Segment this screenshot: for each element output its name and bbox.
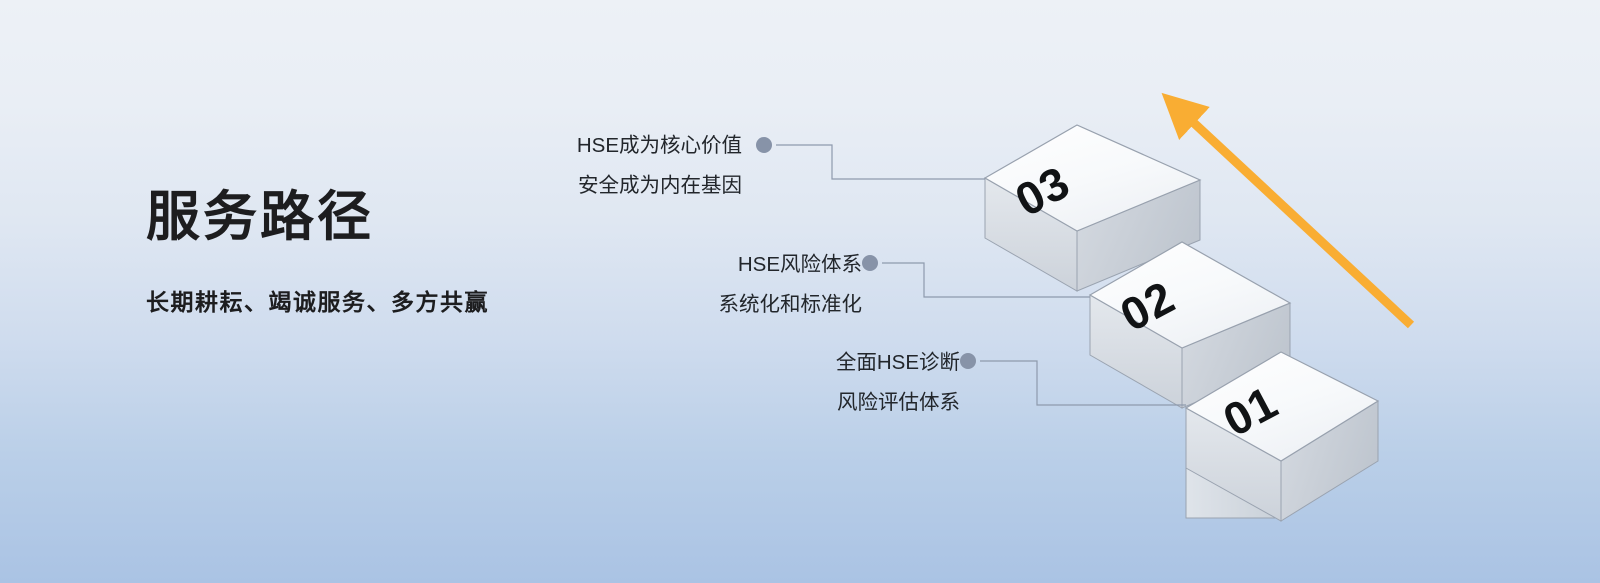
connector-dot-02: [862, 255, 878, 271]
connector-dot-03: [756, 137, 772, 153]
connector-dot-01: [960, 353, 976, 369]
slide-canvas: 服务路径 长期耕耘、竭诚服务、多方共赢 HSE成为核心价值 安全成为内在基因 H…: [0, 0, 1600, 583]
connector-step-03: [756, 137, 985, 179]
connector-line-03: [776, 145, 985, 179]
isometric-staircase-diagram: 03 02 01: [0, 0, 1600, 583]
